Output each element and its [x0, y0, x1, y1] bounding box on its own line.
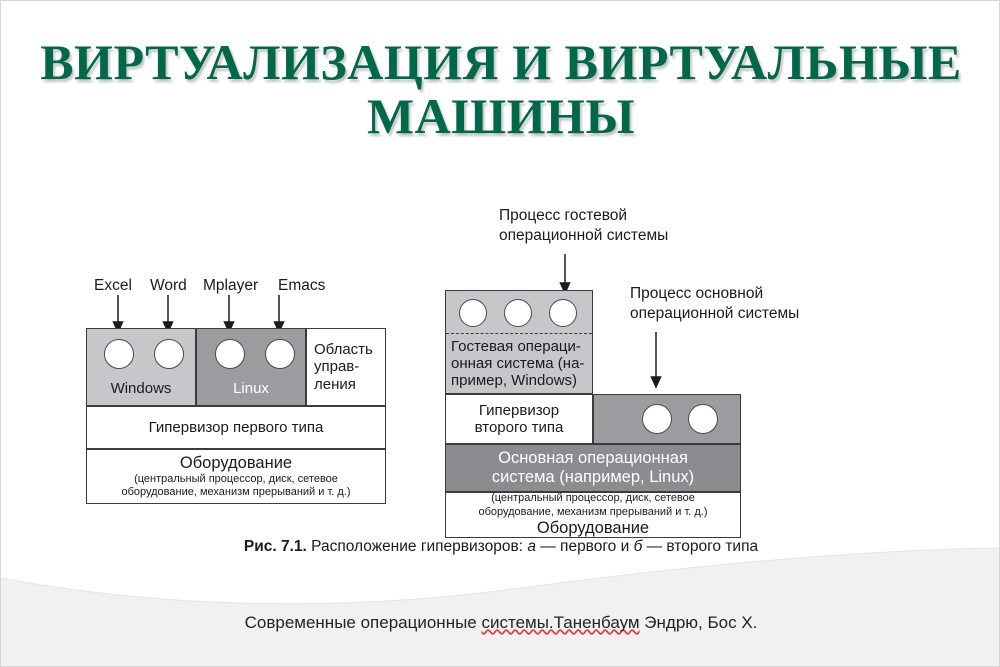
hardware-title-a: Оборудование	[180, 454, 292, 473]
vm-label-windows: Windows	[111, 380, 172, 397]
control-domain-line-2: управ-	[314, 358, 359, 375]
callout-guest-arrow	[445, 254, 645, 294]
hardware-box-b: (центральный процессор, диск, сетевое об…	[445, 492, 741, 538]
footer-misspelled-text: системы.Таненбаум	[481, 613, 639, 632]
guest-process-circle-2	[504, 299, 532, 327]
hardware-detail-b-line-1: (центральный процессор, диск, сетевое	[491, 492, 695, 505]
hypervisor-type1-box: Гипервизор первого типа	[86, 406, 386, 449]
guest-os-line-2: онная система (на-	[451, 355, 584, 372]
process-circle-emacs	[265, 339, 295, 369]
host-os-line-2: система (например, Linux)	[492, 468, 694, 487]
hardware-detail-a-line-2: оборудование, механизм прерываний и т. д…	[121, 486, 350, 499]
source-footer: Современные операционные системы.Таненба…	[1, 613, 1000, 633]
guest-os-line-3: пример, Windows)	[451, 372, 577, 389]
control-domain-box: Область управ- ления	[306, 328, 386, 406]
guest-process-circle-3	[549, 299, 577, 327]
figure-caption: Рис. 7.1. Расположение гипервизоров: а —…	[1, 538, 1000, 556]
hardware-detail-b-line-2: оборудование, механизм прерываний и т. д…	[478, 506, 707, 519]
figure-number: Рис. 7.1.	[244, 538, 307, 555]
process-circle-mplayer	[215, 339, 245, 369]
callout-host-process-line-2: операционной системы	[630, 304, 799, 324]
hypervisor-type2-box: Гипервизор второго типа	[445, 394, 593, 444]
diagram-type1-hypervisor: Excel Word Mplayer Emacs Windows Linu	[86, 271, 386, 526]
hypervisor-type2-line-1: Гипервизор	[479, 402, 559, 419]
callout-host-process-line-1: Процесс основной	[630, 284, 799, 304]
control-domain-line-3: ления	[314, 376, 356, 393]
guest-process-circle-1	[459, 299, 487, 327]
host-os-box: Основная операционная система (например,…	[445, 444, 741, 492]
caption-text-after: — второго типа	[642, 538, 758, 555]
vm-box-windows: Windows	[86, 328, 196, 406]
caption-text-before: Расположение гипервизоров:	[307, 538, 527, 555]
host-process-circle-2	[688, 404, 718, 434]
callout-guest-process: Процесс гостевой операционной системы	[499, 206, 668, 247]
host-os-line-1: Основная операционная	[498, 449, 688, 468]
process-circle-excel	[104, 339, 134, 369]
callout-guest-process-line-2: операционной системы	[499, 226, 668, 246]
page-title: ВИРТУАЛИЗАЦИЯ И ВИРТУАЛЬНЫЕ МАШИНЫ	[1, 35, 1000, 143]
hypervisor-type2-line-2: второго типа	[475, 419, 564, 436]
caption-text-mid: — первого и	[536, 538, 634, 555]
hardware-detail-a-line-1: (центральный процессор, диск, сетевое	[134, 473, 338, 486]
process-label-excel: Excel	[94, 277, 132, 295]
process-label-word: Word	[150, 277, 187, 295]
guest-process-divider	[446, 333, 592, 334]
guest-os-line-1: Гостевая операци-	[451, 338, 581, 355]
caption-letter-b: б	[634, 538, 643, 555]
footer-suffix: Эндрю, Бос Х.	[640, 613, 758, 632]
hardware-box-a: Оборудование (центральный процессор, дис…	[86, 449, 386, 504]
vm-box-linux: Linux	[196, 328, 306, 406]
slide-canvas: ВИРТУАЛИЗАЦИЯ И ВИРТУАЛЬНЫЕ МАШИНЫ Excel…	[0, 0, 1000, 667]
diagram-type2-hypervisor: Процесс гостевой операционной системы Пр…	[445, 206, 755, 526]
control-domain-line-1: Область	[314, 341, 373, 358]
host-process-circle-1	[642, 404, 672, 434]
hardware-title-b: Оборудование	[537, 519, 649, 538]
hypervisor-type1-label: Гипервизор первого типа	[149, 419, 324, 436]
callout-host-process: Процесс основной операционной системы	[630, 284, 799, 325]
process-label-mplayer: Mplayer	[203, 277, 258, 295]
process-label-emacs: Emacs	[278, 277, 325, 295]
footer-prefix: Современные операционные	[245, 613, 482, 632]
process-circle-word	[154, 339, 184, 369]
vm-label-linux: Linux	[233, 380, 269, 397]
callout-guest-process-line-1: Процесс гостевой	[499, 206, 668, 226]
caption-letter-a: а	[527, 538, 536, 555]
